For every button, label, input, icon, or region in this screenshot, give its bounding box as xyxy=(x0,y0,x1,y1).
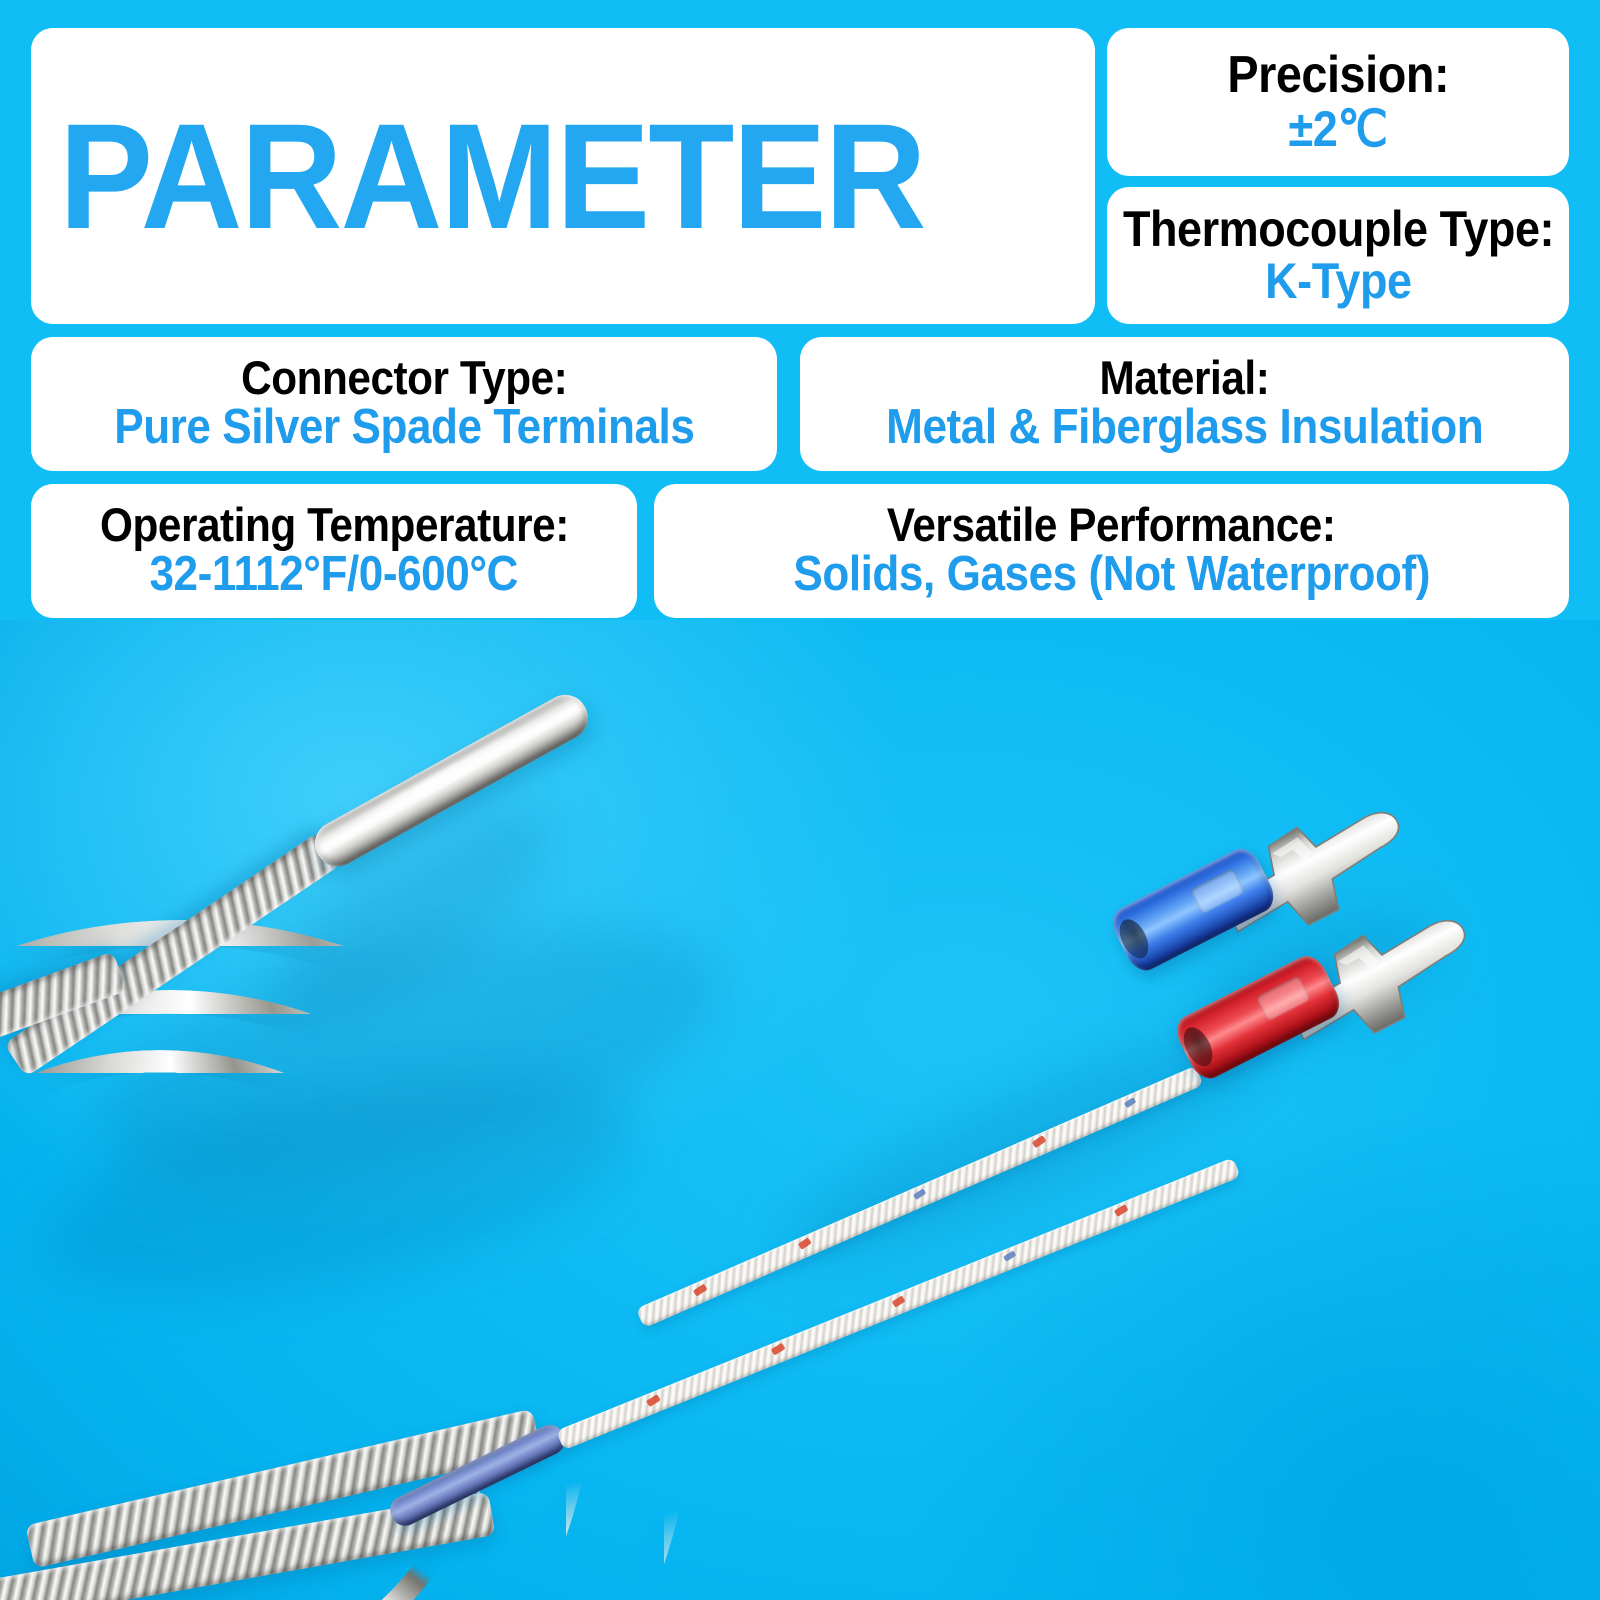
red-tracer xyxy=(1114,1204,1129,1217)
terminal-wire-hole xyxy=(1114,915,1155,963)
spec-label: Thermocouple Type: xyxy=(1122,203,1553,255)
spec-label: Versatile Performance: xyxy=(887,501,1336,550)
blue-tracer xyxy=(913,1188,926,1200)
spec-card-connector-type: Connector Type: Pure Silver Spade Termin… xyxy=(31,337,777,471)
spec-label: Material: xyxy=(1100,354,1270,403)
blue-tracer xyxy=(1003,1250,1016,1261)
spec-value: K-Type xyxy=(1265,255,1411,308)
page-title: PARAMETER xyxy=(59,101,925,251)
parameter-title-card: PARAMETER xyxy=(31,28,1095,324)
spec-card-versatile-performance: Versatile Performance: Solids, Gases (No… xyxy=(654,484,1569,618)
blue-tracer xyxy=(1124,1097,1136,1108)
spec-card-thermocouple-type: Thermocouple Type: K-Type xyxy=(1107,187,1569,324)
red-tracer xyxy=(1032,1135,1047,1148)
red-tracer xyxy=(693,1284,708,1297)
spec-value: Solids, Gases (Not Waterproof) xyxy=(793,549,1430,601)
spec-card-operating-temperature: Operating Temperature: 32-1112°F/0-600°C xyxy=(31,484,637,618)
red-tracer xyxy=(771,1343,786,1356)
spec-label: Operating Temperature: xyxy=(100,501,569,550)
spec-card-precision: Precision: ±2℃ xyxy=(1107,28,1569,176)
red-tracer xyxy=(798,1237,812,1249)
spec-value: Pure Silver Spade Terminals xyxy=(114,402,694,454)
spec-label: Precision: xyxy=(1227,48,1449,102)
infographic-page: PARAMETER Precision: ±2℃ Thermocouple Ty… xyxy=(0,0,1600,1600)
terminal-crimp-window xyxy=(1190,868,1245,914)
spec-value: ±2℃ xyxy=(1289,103,1388,156)
spec-card-material: Material: Metal & Fiberglass Insulation xyxy=(800,337,1569,471)
spec-value: 32-1112°F/0-600°C xyxy=(150,549,518,601)
spec-label: Connector Type: xyxy=(241,354,567,403)
terminal-crimp-window xyxy=(1255,975,1311,1021)
red-tracer xyxy=(892,1295,906,1307)
spec-value: Metal & Fiberglass Insulation xyxy=(886,402,1483,454)
product-photo xyxy=(0,620,1600,1600)
red-tracer xyxy=(646,1394,661,1407)
